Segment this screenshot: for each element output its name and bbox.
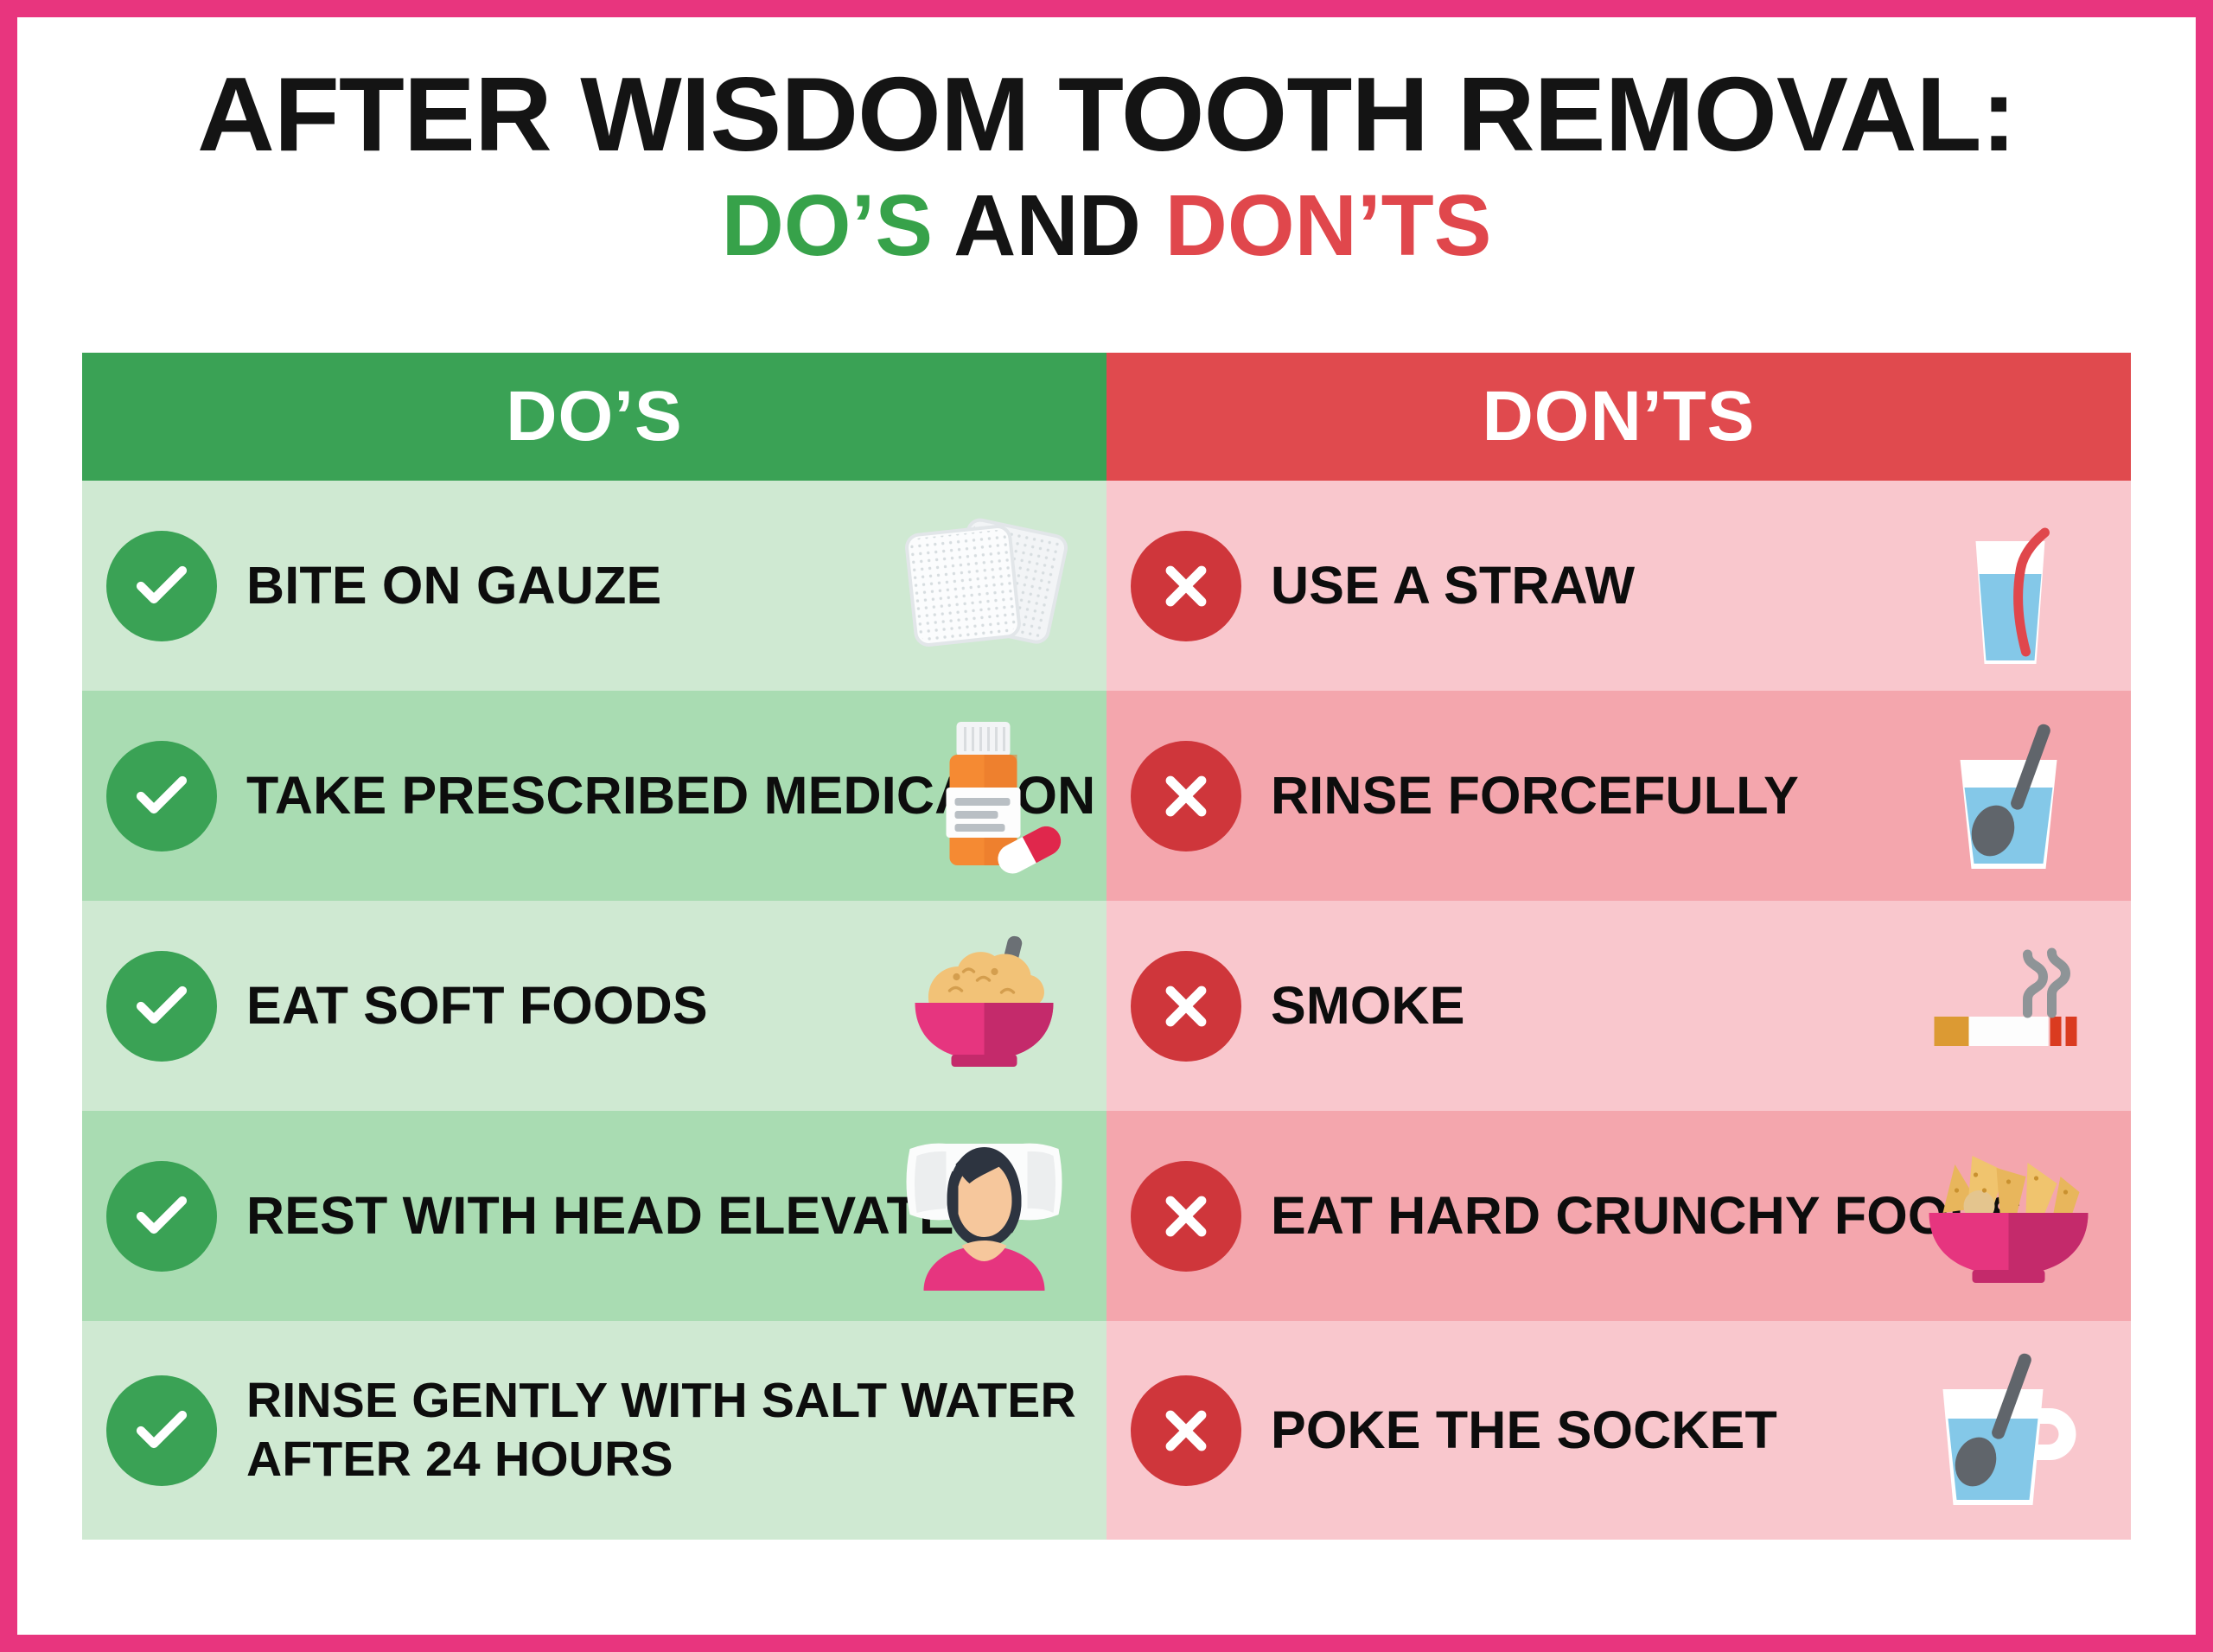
- oatmeal-bowl-icon: [891, 920, 1077, 1093]
- subtitle-donts-word: DON’TS: [1165, 177, 1492, 274]
- dont-item-label: SMOKE: [1271, 975, 1465, 1037]
- do-item-label: REST WITH HEAD ELEVATED: [246, 1185, 992, 1247]
- table-row[interactable]: RINSE GENTLY WITH SALT WATER AFTER 24 HO…: [82, 1321, 1106, 1540]
- table-row[interactable]: TAKE PRESCRIBED MEDICATION: [82, 691, 1106, 901]
- dos-column-header: DO’S: [82, 353, 1106, 481]
- table-row[interactable]: EAT SOFT FOODS: [82, 901, 1106, 1111]
- close-icon: [1131, 531, 1241, 641]
- table-row[interactable]: USE A STRAW: [1106, 481, 2131, 691]
- table-row[interactable]: BITE ON GAUZE: [82, 481, 1106, 691]
- check-icon: [106, 741, 217, 852]
- poster-canvas: AFTER WISDOM TOOTH REMOVAL: DO’S AND DON…: [17, 17, 2196, 1635]
- check-icon: [106, 531, 217, 641]
- dos-donts-table: DO’S BITE ON GAUZE: [82, 353, 2131, 1540]
- close-icon: [1131, 741, 1241, 852]
- dos-column: DO’S BITE ON GAUZE: [82, 353, 1106, 1540]
- glass-with-spoon-icon: [1916, 710, 2101, 883]
- check-icon: [106, 951, 217, 1062]
- table-row[interactable]: SMOKE: [1106, 901, 2131, 1111]
- page-subtitle: DO’S AND DON’TS: [17, 177, 2196, 274]
- do-item-label: RINSE GENTLY WITH SALT WATER AFTER 24 HO…: [246, 1372, 1106, 1489]
- glass-with-straw-icon: [1916, 500, 2101, 673]
- mug-with-spoon-icon: [1916, 1344, 2101, 1517]
- close-icon: [1131, 1161, 1241, 1272]
- medication-bottle-icon: [891, 710, 1077, 883]
- donts-column-header: DON’TS: [1106, 353, 2131, 481]
- donts-column: DON’TS USE A STRAW: [1106, 353, 2131, 1540]
- crunchy-chips-bowl-icon: [1916, 1130, 2101, 1303]
- do-item-label: EAT SOFT FOODS: [246, 975, 708, 1037]
- do-item-label: BITE ON GAUZE: [246, 555, 661, 617]
- cigarette-smoke-icon: [1916, 920, 2101, 1093]
- gauze-pads-icon: [891, 500, 1077, 673]
- subtitle-dos-word: DO’S: [722, 177, 933, 274]
- dont-item-label: EAT HARD CRUNCHY FOODS: [1271, 1185, 2023, 1247]
- dont-item-label: RINSE FORCEFULLY: [1271, 765, 1799, 827]
- dont-item-label: USE A STRAW: [1271, 555, 1635, 617]
- poster-title-block: AFTER WISDOM TOOTH REMOVAL: DO’S AND DON…: [17, 17, 2196, 274]
- check-icon: [106, 1161, 217, 1272]
- check-icon: [106, 1375, 217, 1486]
- table-row[interactable]: POKE THE SOCKET: [1106, 1321, 2131, 1540]
- close-icon: [1131, 951, 1241, 1062]
- resting-person-pillow-icon: [891, 1130, 1077, 1303]
- table-row[interactable]: RINSE FORCEFULLY: [1106, 691, 2131, 901]
- table-row[interactable]: REST WITH HEAD ELEVATED: [82, 1111, 1106, 1321]
- subtitle-and-word: AND: [953, 177, 1141, 274]
- dont-item-label: POKE THE SOCKET: [1271, 1400, 1777, 1462]
- page-title: AFTER WISDOM TOOTH REMOVAL:: [0, 59, 2213, 170]
- close-icon: [1131, 1375, 1241, 1486]
- table-row[interactable]: EAT HARD CRUNCHY FOODS: [1106, 1111, 2131, 1321]
